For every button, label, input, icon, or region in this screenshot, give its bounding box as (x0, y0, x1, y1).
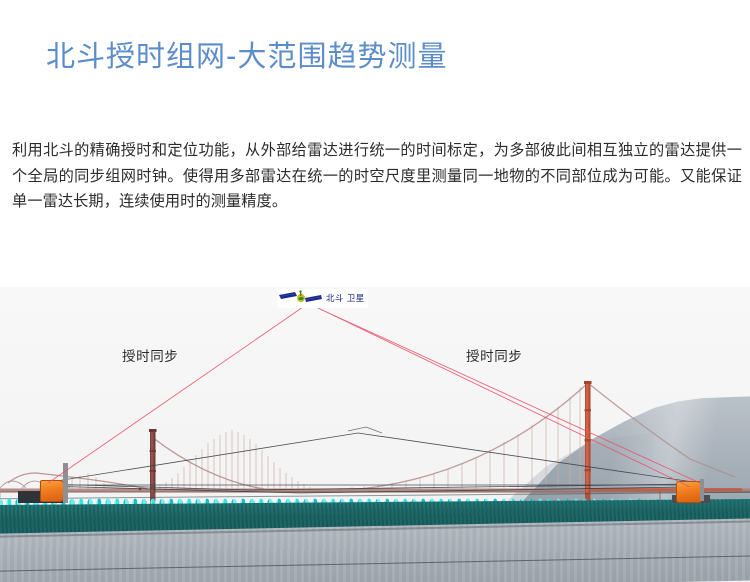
annotation-timing-sync-right: 授时同步 (466, 345, 522, 365)
page-title: 北斗授时组网-大范围趋势测量 (46, 36, 447, 76)
annotation-timing-sync-left: 授时同步 (122, 345, 178, 365)
satellite-badge: 北斗 卫星 (277, 289, 368, 308)
satellite-icon (279, 290, 323, 307)
timing-signal-lines (0, 287, 750, 582)
satellite-label: 北斗 卫星 (326, 294, 365, 304)
body-paragraph: 利用北斗的精确授时和定位功能，从外部给雷达进行统一的时间标定，为多部彼此间相互独… (12, 138, 742, 215)
illustration-panel (0, 287, 750, 582)
